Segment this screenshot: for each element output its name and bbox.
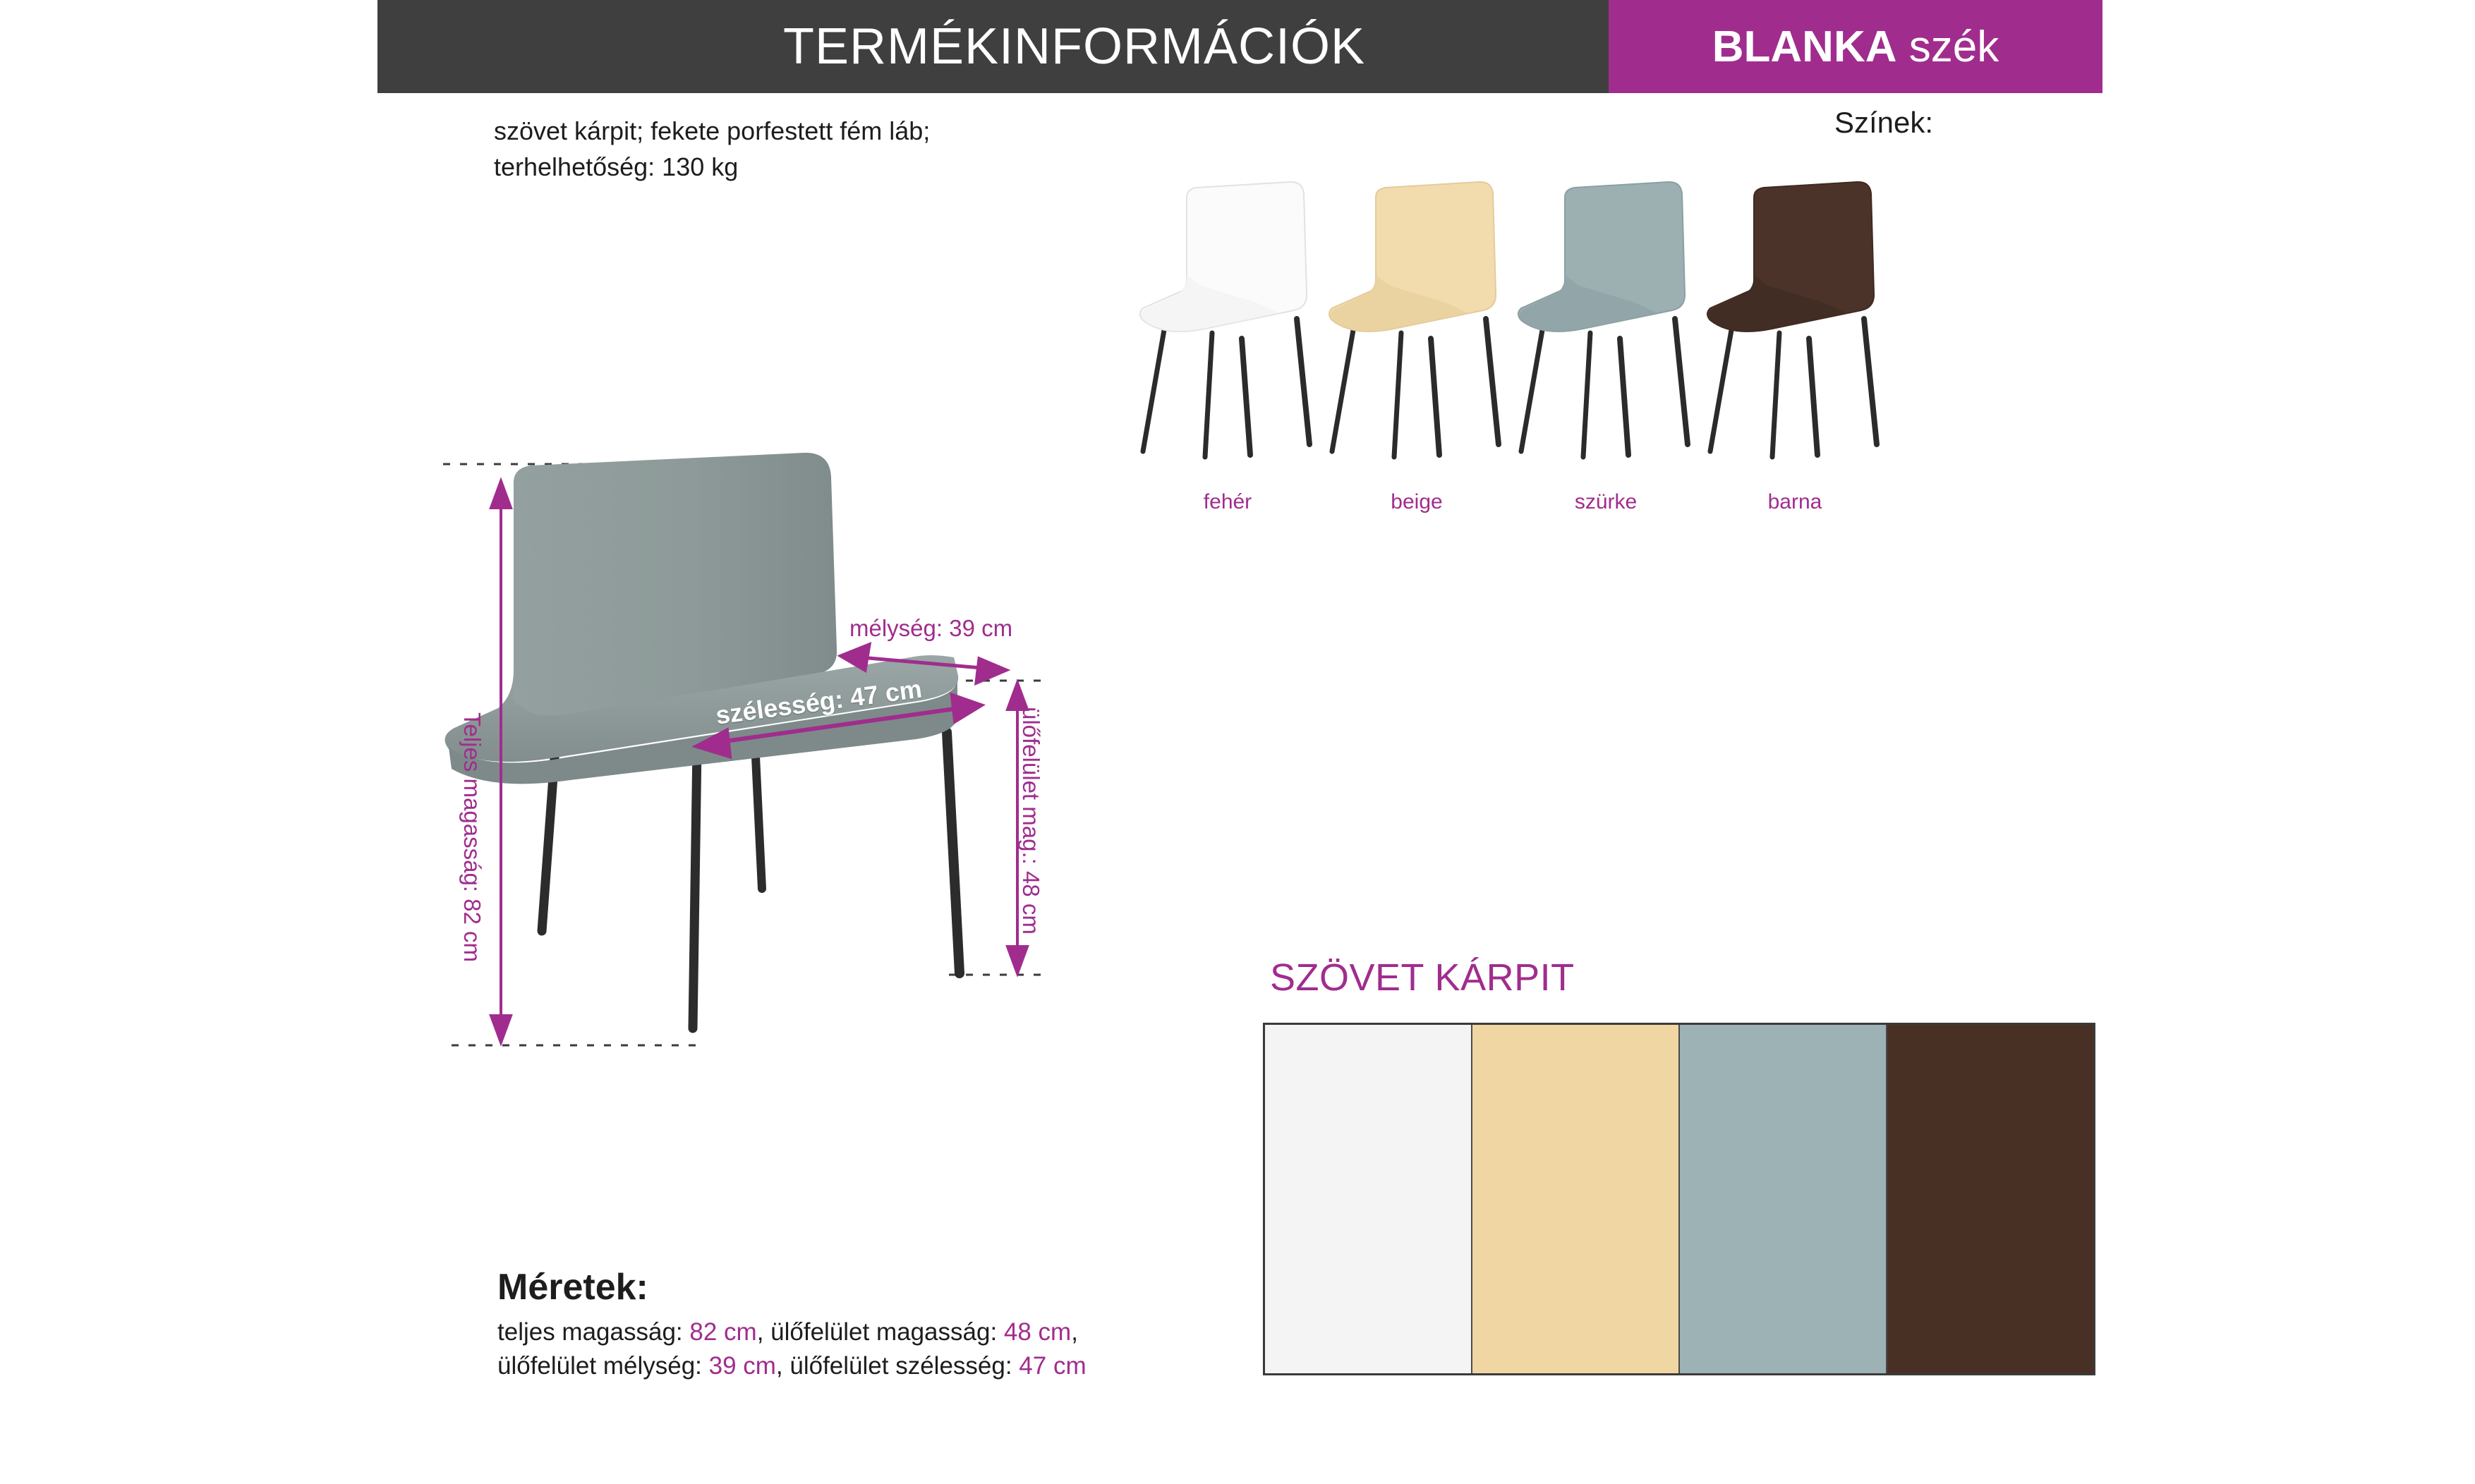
dimensions-summary: Méretek: teljes magasság: 82 cm, ülőfelü… xyxy=(497,1266,1245,1384)
chair-icon xyxy=(1311,169,1523,487)
description-line-1: szövet kárpit; fekete porfestett fém láb… xyxy=(494,113,1129,149)
seat-width-text: ülőfelület szélesség: xyxy=(789,1352,1019,1380)
chair-dimension-drawing xyxy=(423,437,1072,1206)
product-description: szövet kárpit; fekete porfestett fém láb… xyxy=(494,113,1129,185)
seat-height-label: ülőfelület mag.: 48 cm xyxy=(1017,707,1044,935)
color-variant-feher[interactable]: fehér xyxy=(1122,169,1333,536)
total-height-value: 82 cm xyxy=(689,1318,756,1346)
color-variant-szurke[interactable]: szürke xyxy=(1500,169,1712,536)
colors-heading: Színek: xyxy=(1834,106,1933,140)
tail: , xyxy=(1071,1318,1078,1346)
product-type: szék xyxy=(1897,23,1999,71)
product-brand: BLANKA xyxy=(1712,23,1897,71)
fabric-section-title: SZÖVET KÁRPIT xyxy=(1270,956,1575,999)
chair-icon xyxy=(1689,169,1901,487)
dimensions-line-2: ülőfelület mélység: 39 cm, ülőfelület sz… xyxy=(497,1349,1245,1383)
fabric-swatch-feher[interactable] xyxy=(1265,1025,1471,1373)
sep: , xyxy=(757,1318,770,1346)
fabric-swatch-barna[interactable] xyxy=(1886,1025,2093,1373)
chair-icon xyxy=(1122,169,1333,487)
seat-depth-text: ülőfelület mélység: xyxy=(497,1352,709,1380)
color-variant-beige[interactable]: beige xyxy=(1311,169,1523,536)
total-height-label: Teljes magasság: 82 cm xyxy=(459,712,485,962)
seat-width-value: 47 cm xyxy=(1019,1352,1086,1380)
product-name: BLANKA szék xyxy=(1712,22,1999,72)
seat-height-value: 48 cm xyxy=(1004,1318,1071,1346)
header-product-bar: BLANKA szék xyxy=(1609,0,2102,93)
fabric-swatch-block xyxy=(1263,1023,2095,1375)
depth-label: mélység: 39 cm xyxy=(849,615,1012,642)
color-variants-row: fehér beige szürke xyxy=(1122,169,2018,536)
fabric-swatch-beige[interactable] xyxy=(1471,1025,1678,1373)
chair-icon xyxy=(1500,169,1712,487)
color-variant-label: fehér xyxy=(1122,490,1333,514)
color-variant-label: szürke xyxy=(1500,490,1712,514)
fabric-swatch-szurke[interactable] xyxy=(1678,1025,1886,1373)
seat-depth-value: 39 cm xyxy=(709,1352,776,1380)
seat-height-text: ülőfelület magasság: xyxy=(770,1318,1004,1346)
dimension-diagram: Teljes magasság: 82 cm ülőfelület mag.: … xyxy=(423,437,1072,1206)
page-title: TERMÉKINFORMÁCIÓK xyxy=(783,18,1365,75)
color-variant-label: beige xyxy=(1311,490,1523,514)
description-line-2: terhelhetőség: 130 kg xyxy=(494,149,1129,185)
header-dark-bar: TERMÉKINFORMÁCIÓK xyxy=(377,0,1771,93)
color-variant-label: barna xyxy=(1689,490,1901,514)
sep: , xyxy=(776,1352,789,1380)
color-variant-barna[interactable]: barna xyxy=(1689,169,1901,536)
dimensions-title: Méretek: xyxy=(497,1266,1245,1308)
total-height-text: teljes magasság: xyxy=(497,1318,689,1346)
dimensions-line-1: teljes magasság: 82 cm, ülőfelület magas… xyxy=(497,1315,1245,1349)
